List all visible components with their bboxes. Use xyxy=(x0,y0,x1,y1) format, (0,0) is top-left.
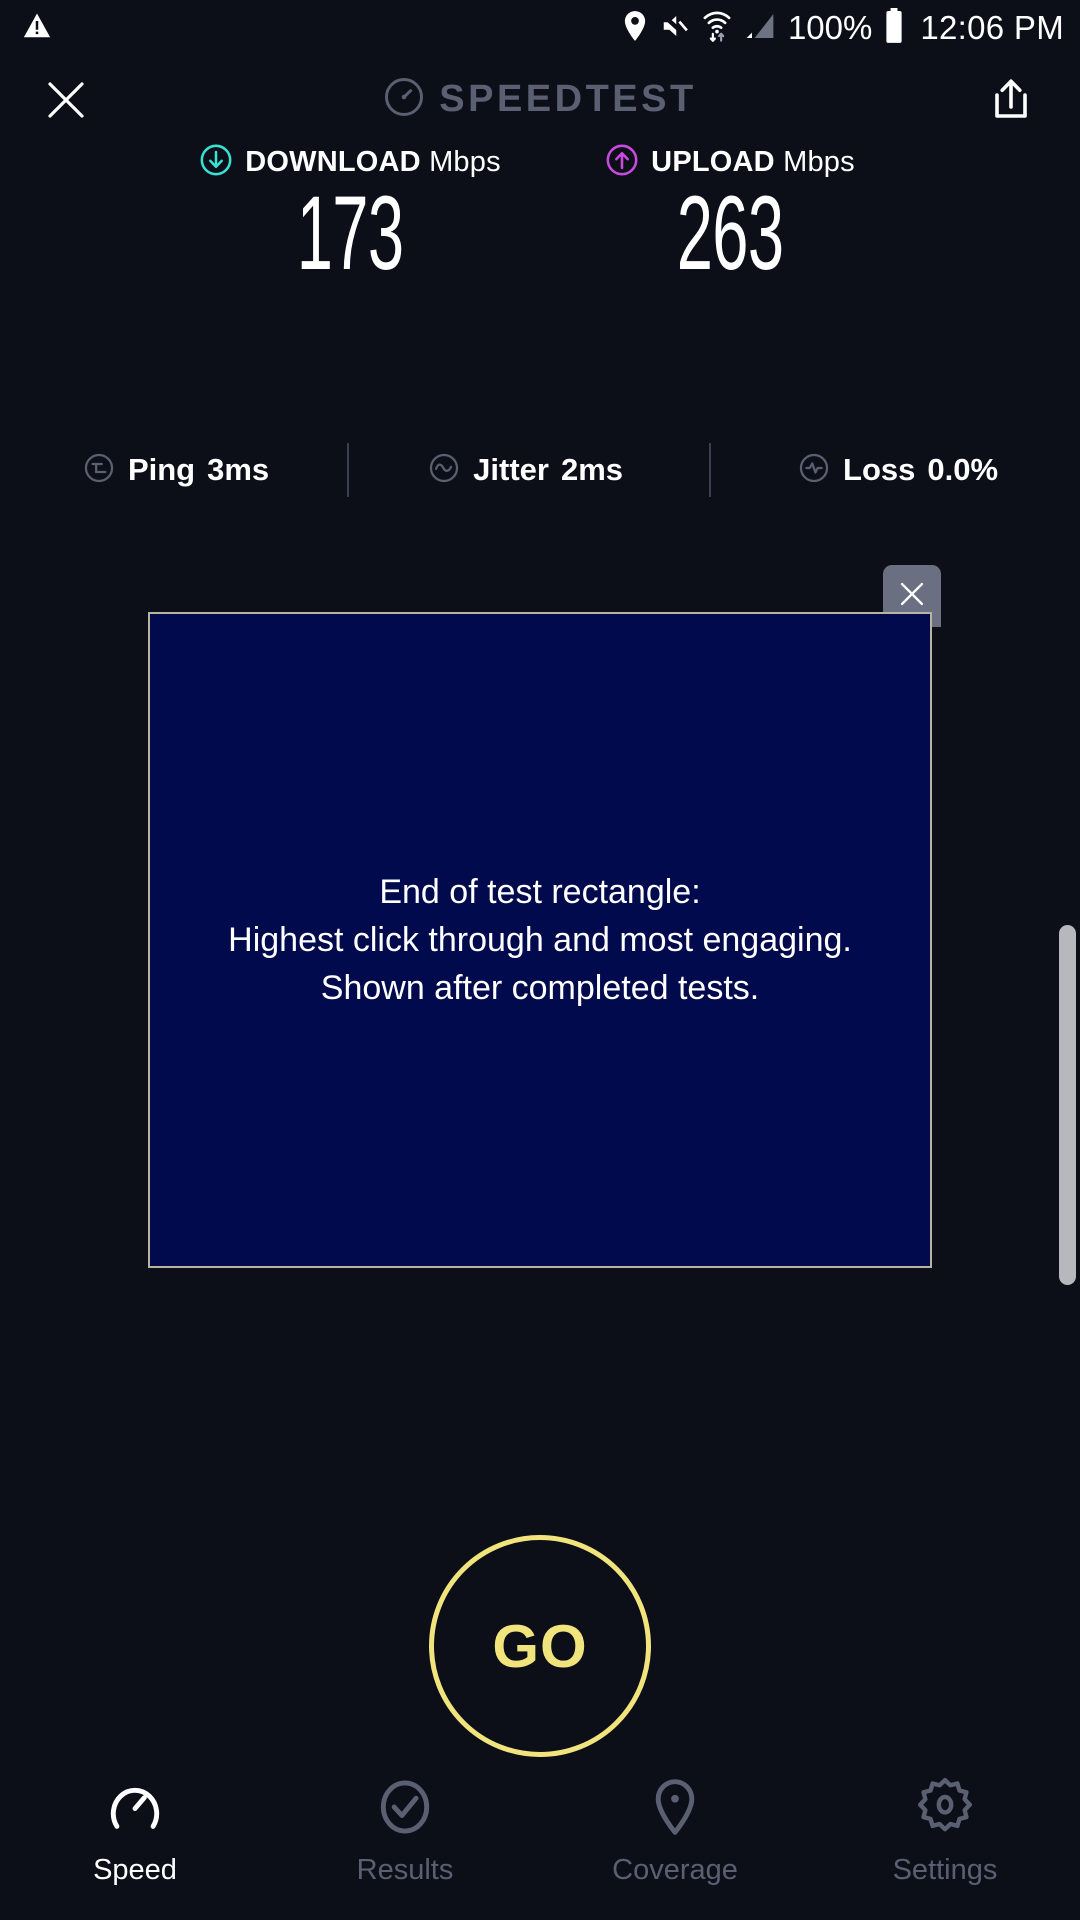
battery-full-icon xyxy=(884,8,904,49)
volume-muted-icon xyxy=(660,11,690,46)
nav-label-coverage: Coverage xyxy=(612,1854,738,1887)
download-upload-row: DOWNLOAD Mbps 173 UPLOAD Mbps xyxy=(0,140,1080,287)
nav-item-results[interactable]: Results xyxy=(270,1760,540,1920)
speedometer-icon xyxy=(104,1774,166,1840)
vertical-scrollbar[interactable] xyxy=(1059,925,1076,1285)
check-circle-icon xyxy=(374,1774,436,1840)
location-pin-icon xyxy=(622,10,648,47)
ping-value: 3ms xyxy=(207,452,269,488)
ping-jitter-loss-row: Ping 3ms Jitter 2ms xyxy=(0,440,1080,500)
battery-percent-label: 100% xyxy=(788,9,872,47)
upload-label: UPLOAD Mbps xyxy=(651,146,855,179)
jitter-value: 2ms xyxy=(561,452,623,488)
upload-arrow-icon xyxy=(605,143,639,182)
ad-line-1: End of test rectangle: xyxy=(228,868,852,916)
go-button[interactable]: GO xyxy=(429,1535,651,1757)
download-value: 173 xyxy=(297,180,404,287)
download-arrow-icon xyxy=(199,143,233,182)
share-icon xyxy=(987,75,1035,128)
bottom-navigation: Speed Results Coverage xyxy=(0,1760,1080,1920)
nav-item-speed[interactable]: Speed xyxy=(0,1760,270,1920)
nav-label-settings: Settings xyxy=(893,1854,998,1887)
jitter-metric: Jitter 2ms xyxy=(419,451,631,490)
share-button[interactable] xyxy=(980,70,1042,132)
download-label: DOWNLOAD Mbps xyxy=(245,146,501,179)
map-pin-icon xyxy=(644,1774,706,1840)
jitter-label: Jitter xyxy=(473,452,549,488)
loss-value: 0.0% xyxy=(927,452,998,488)
ad-line-3: Shown after completed tests. xyxy=(228,964,852,1012)
ping-metric: Ping 3ms xyxy=(74,451,277,490)
speedtest-app-screen: 100% 12:06 PM xyxy=(0,0,1080,1920)
loss-label: Loss xyxy=(843,452,915,488)
jitter-icon xyxy=(427,451,461,490)
nav-item-settings[interactable]: Settings xyxy=(810,1760,1080,1920)
clock-label: 12:06 PM xyxy=(920,9,1064,47)
app-header: SPEEDTEST xyxy=(0,58,1080,144)
brand-title: SPEEDTEST xyxy=(439,78,696,121)
status-bar-left xyxy=(22,11,52,46)
wifi-icon xyxy=(702,9,732,48)
gear-icon xyxy=(914,1774,976,1840)
ad-banner[interactable]: End of test rectangle: Highest click thr… xyxy=(148,612,932,1268)
speedometer-icon xyxy=(383,76,425,123)
nav-item-coverage[interactable]: Coverage xyxy=(540,1760,810,1920)
loss-icon xyxy=(797,451,831,490)
ping-label: Ping xyxy=(128,452,195,488)
ping-icon xyxy=(82,451,116,490)
ad-close-icon xyxy=(895,577,929,616)
status-bar-right: 100% 12:06 PM xyxy=(622,8,1064,49)
upload-value: 263 xyxy=(677,180,784,287)
ad-text: End of test rectangle: Highest click thr… xyxy=(214,868,866,1012)
cellular-signal-icon xyxy=(744,11,776,46)
status-bar: 100% 12:06 PM xyxy=(0,0,1080,56)
go-button-label: GO xyxy=(492,1612,587,1681)
ad-line-2: Highest click through and most engaging. xyxy=(228,916,852,964)
loss-metric: Loss 0.0% xyxy=(789,451,1006,490)
brand-lockup: SPEEDTEST xyxy=(0,76,1080,123)
download-metric: DOWNLOAD Mbps 173 xyxy=(160,140,540,287)
divider-2 xyxy=(709,443,711,497)
upload-metric: UPLOAD Mbps 263 xyxy=(540,140,920,287)
nav-label-speed: Speed xyxy=(93,1854,177,1887)
test-results: DOWNLOAD Mbps 173 UPLOAD Mbps xyxy=(0,140,1080,287)
divider-1 xyxy=(347,443,349,497)
warning-triangle-icon xyxy=(22,11,52,46)
nav-label-results: Results xyxy=(357,1854,454,1887)
